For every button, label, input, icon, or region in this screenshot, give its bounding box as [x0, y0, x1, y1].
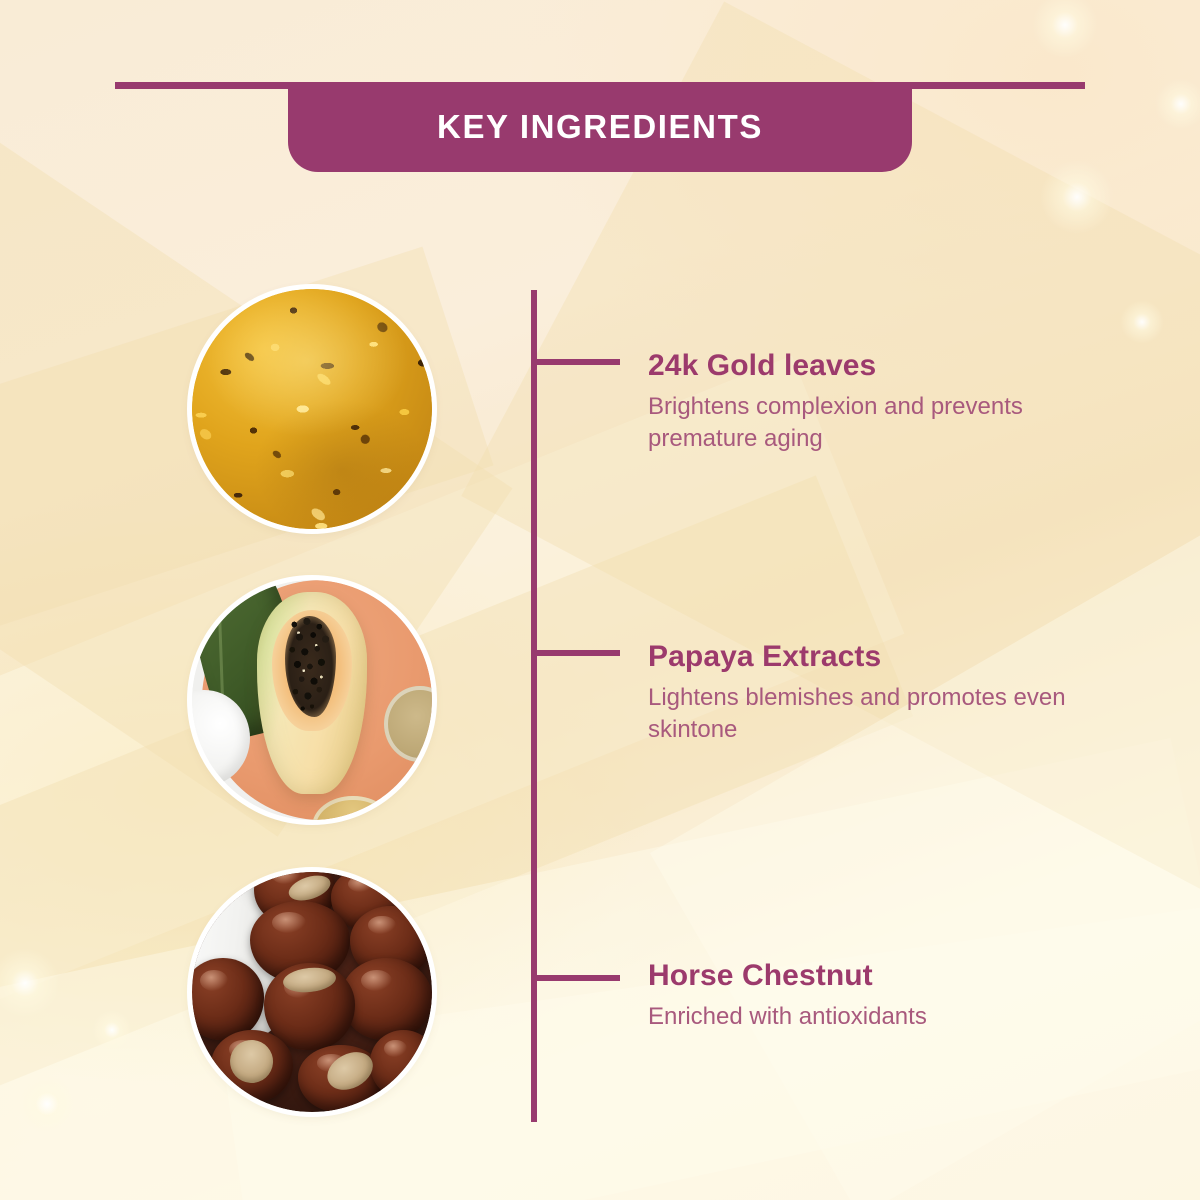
key-ingredients-infographic: KEY INGREDIENTS: [0, 0, 1200, 1200]
gold-sheen-layer: [192, 289, 432, 529]
connector-branch: [531, 359, 620, 365]
gold-leaves-photo-inner: [192, 289, 432, 529]
ingredient-entry: Papaya Extracts Lightens blemishes and p…: [648, 641, 1118, 746]
papaya-photo: [192, 580, 432, 820]
ingredient-title: Papaya Extracts: [648, 641, 1118, 673]
chestnut: [370, 1030, 432, 1097]
horse-chestnut-photo-inner: [192, 872, 432, 1112]
ingredient-description: Brightens complexion and prevents premat…: [648, 391, 1118, 454]
ingredient-entry: 24k Gold leaves Brightens complexion and…: [648, 350, 1118, 455]
page-title: KEY INGREDIENTS: [437, 108, 763, 146]
papaya-photo-inner: [192, 580, 432, 820]
header-banner: KEY INGREDIENTS: [288, 82, 912, 172]
horse-chestnut-photo: [192, 872, 432, 1112]
ingredient-title: Horse Chestnut: [648, 960, 1118, 992]
gold-leaves-photo: [192, 289, 432, 529]
connector-branch: [531, 650, 620, 656]
papaya-seeds: [285, 614, 337, 719]
connector-branch: [531, 975, 620, 981]
ingredient-entry: Horse Chestnut Enriched with antioxidant…: [648, 960, 1118, 1033]
ingredient-description: Enriched with antioxidants: [648, 1001, 1118, 1033]
connector-spine: [531, 290, 537, 1122]
ingredient-title: 24k Gold leaves: [648, 350, 1118, 382]
ingredient-description: Lightens blemishes and promotes even ski…: [648, 682, 1118, 745]
papaya-half-fruit: [257, 592, 367, 794]
